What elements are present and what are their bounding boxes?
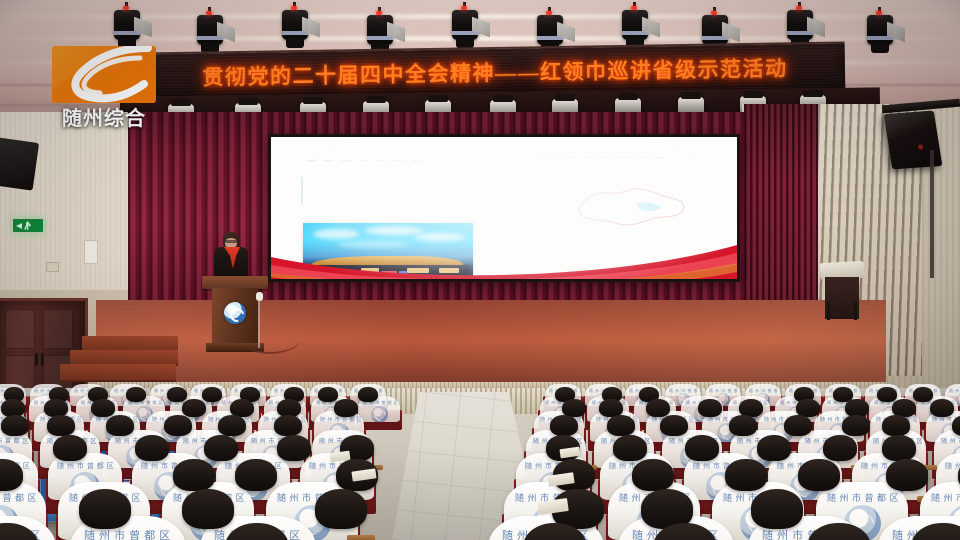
audience-member bbox=[91, 399, 115, 417]
exit-sign bbox=[12, 218, 44, 233]
audience-member bbox=[698, 399, 722, 417]
audience-member bbox=[646, 399, 670, 417]
audience-member bbox=[202, 387, 222, 402]
audience-member bbox=[550, 415, 578, 436]
audience-member bbox=[757, 435, 791, 461]
audience-member bbox=[882, 415, 910, 436]
slide-red-ribbon bbox=[271, 239, 737, 279]
chair-cover-text: 随 州 市 曾 都 区 bbox=[931, 491, 960, 504]
ceiling-light-9 bbox=[785, 4, 815, 46]
broadcast-frame: 贯彻党的二十届四中全会精神——红领巾巡讲省级示范活动 — — — — — — —… bbox=[0, 0, 960, 540]
chair-cover-text: 随 州 市 曾 都 区 bbox=[0, 491, 37, 504]
audience-member bbox=[334, 399, 358, 417]
audience-member bbox=[798, 459, 840, 491]
audience-member bbox=[182, 399, 206, 417]
ceiling-light-5 bbox=[450, 4, 480, 46]
audience-member bbox=[47, 415, 75, 436]
audience-member bbox=[729, 415, 757, 436]
led-display-screen: — — — — — — — — — — — — — — — — bbox=[268, 134, 740, 282]
audience-member bbox=[685, 435, 719, 461]
audience-member bbox=[164, 415, 192, 436]
audience-member bbox=[135, 435, 169, 461]
chair-cover-text: 随 州 市 曾 都 区 bbox=[827, 491, 899, 504]
ceiling-light-2 bbox=[195, 9, 225, 51]
audience-member bbox=[877, 387, 897, 402]
audience-member bbox=[358, 387, 378, 402]
wall-outlet bbox=[46, 262, 59, 272]
audience-member bbox=[823, 435, 857, 461]
stage-steps bbox=[60, 330, 180, 390]
school-seal-icon bbox=[224, 302, 246, 324]
swoosh-road-logo-icon bbox=[52, 46, 156, 103]
ceiling-light-7 bbox=[620, 4, 650, 46]
audience-member bbox=[318, 387, 338, 402]
audience-member bbox=[182, 489, 234, 529]
ceiling-light-4 bbox=[365, 9, 395, 51]
speaker-support-rod bbox=[930, 150, 934, 278]
ceiling-light-10 bbox=[865, 9, 895, 51]
audience-member bbox=[886, 459, 928, 491]
audience-member bbox=[106, 415, 134, 436]
audience-member bbox=[882, 435, 916, 461]
audience-member bbox=[751, 489, 803, 529]
audience-member bbox=[607, 415, 635, 436]
audience-member bbox=[274, 415, 302, 436]
chair-cover-text: 随 州 市 曾 都 区 bbox=[57, 461, 114, 471]
audience-member bbox=[204, 435, 238, 461]
wall-switch-plate bbox=[84, 240, 98, 264]
chair-cover-text: 随 州 市 曾 都 区 bbox=[320, 416, 362, 423]
china-map-outline-icon bbox=[571, 179, 691, 237]
audience-member bbox=[930, 399, 954, 417]
running-man-icon bbox=[24, 221, 31, 230]
school-seal-icon bbox=[371, 406, 388, 422]
pa-speaker-left bbox=[0, 137, 39, 190]
channel-name: 随州综合 bbox=[52, 102, 156, 131]
slide-title-left: — — — — — — — bbox=[307, 155, 424, 165]
audience-member bbox=[277, 435, 311, 461]
audience-member bbox=[173, 459, 215, 491]
slide-title-right: — — — — — — — — — bbox=[541, 153, 665, 162]
glasses-icon bbox=[225, 240, 237, 243]
ceiling-light-1 bbox=[112, 4, 142, 46]
audience-member bbox=[167, 387, 187, 402]
audience-member bbox=[79, 489, 131, 529]
audience-member bbox=[632, 459, 674, 491]
audience-member bbox=[1, 415, 29, 436]
presentation-slide: — — — — — — — — — — — — — — — — bbox=[271, 137, 737, 279]
slide-accent-rule bbox=[301, 177, 303, 205]
ceiling-light-6 bbox=[535, 9, 565, 51]
covered-piano bbox=[820, 262, 864, 320]
audience-member bbox=[613, 435, 647, 461]
channel-logo-bug: 随州综合 bbox=[52, 46, 156, 126]
ceiling-light-3 bbox=[280, 4, 310, 46]
audience-member bbox=[126, 387, 146, 402]
chair-cover-text: 随 州 市 曾 都 区 bbox=[84, 527, 171, 540]
audience-member bbox=[784, 415, 812, 436]
audience-member bbox=[53, 435, 87, 461]
audience-member bbox=[235, 459, 277, 491]
audience-member bbox=[913, 387, 933, 402]
chair-cover-text: 随 州 市 曾 都 区 bbox=[941, 436, 960, 445]
audience-member bbox=[842, 415, 870, 436]
chair-cover-text: 随 州 市 曾 都 区 bbox=[0, 436, 29, 445]
audience-member bbox=[315, 489, 367, 529]
audience-member bbox=[660, 415, 688, 436]
exit-arrow-icon bbox=[16, 223, 22, 229]
seat-armrest bbox=[347, 535, 375, 540]
audience-member bbox=[725, 459, 767, 491]
led-banner-text: 贯彻党的二十届四中全会精神——红领巾巡讲省级示范活动 bbox=[145, 52, 845, 93]
audience-member bbox=[218, 415, 246, 436]
